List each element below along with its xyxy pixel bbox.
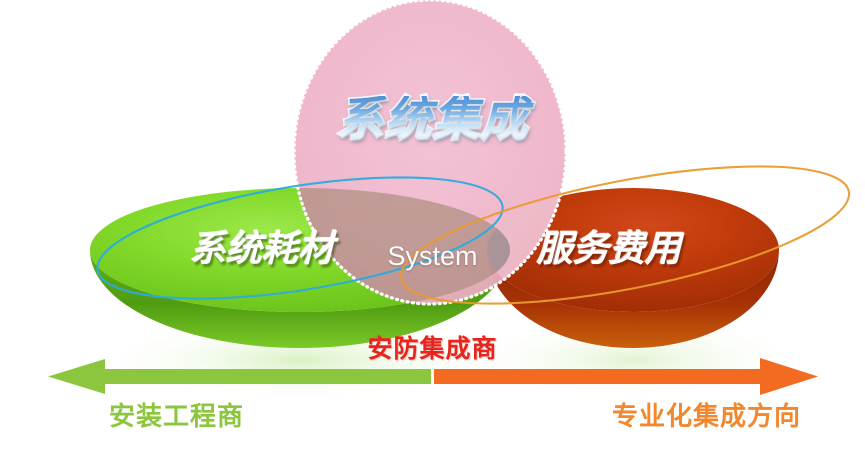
diagram-canvas: 系统集成 系统集成 系统耗材 服务费用 System 安防集成商 安装工程商 专…: [0, 0, 865, 450]
venn-diagram-shapes: [0, 0, 865, 450]
